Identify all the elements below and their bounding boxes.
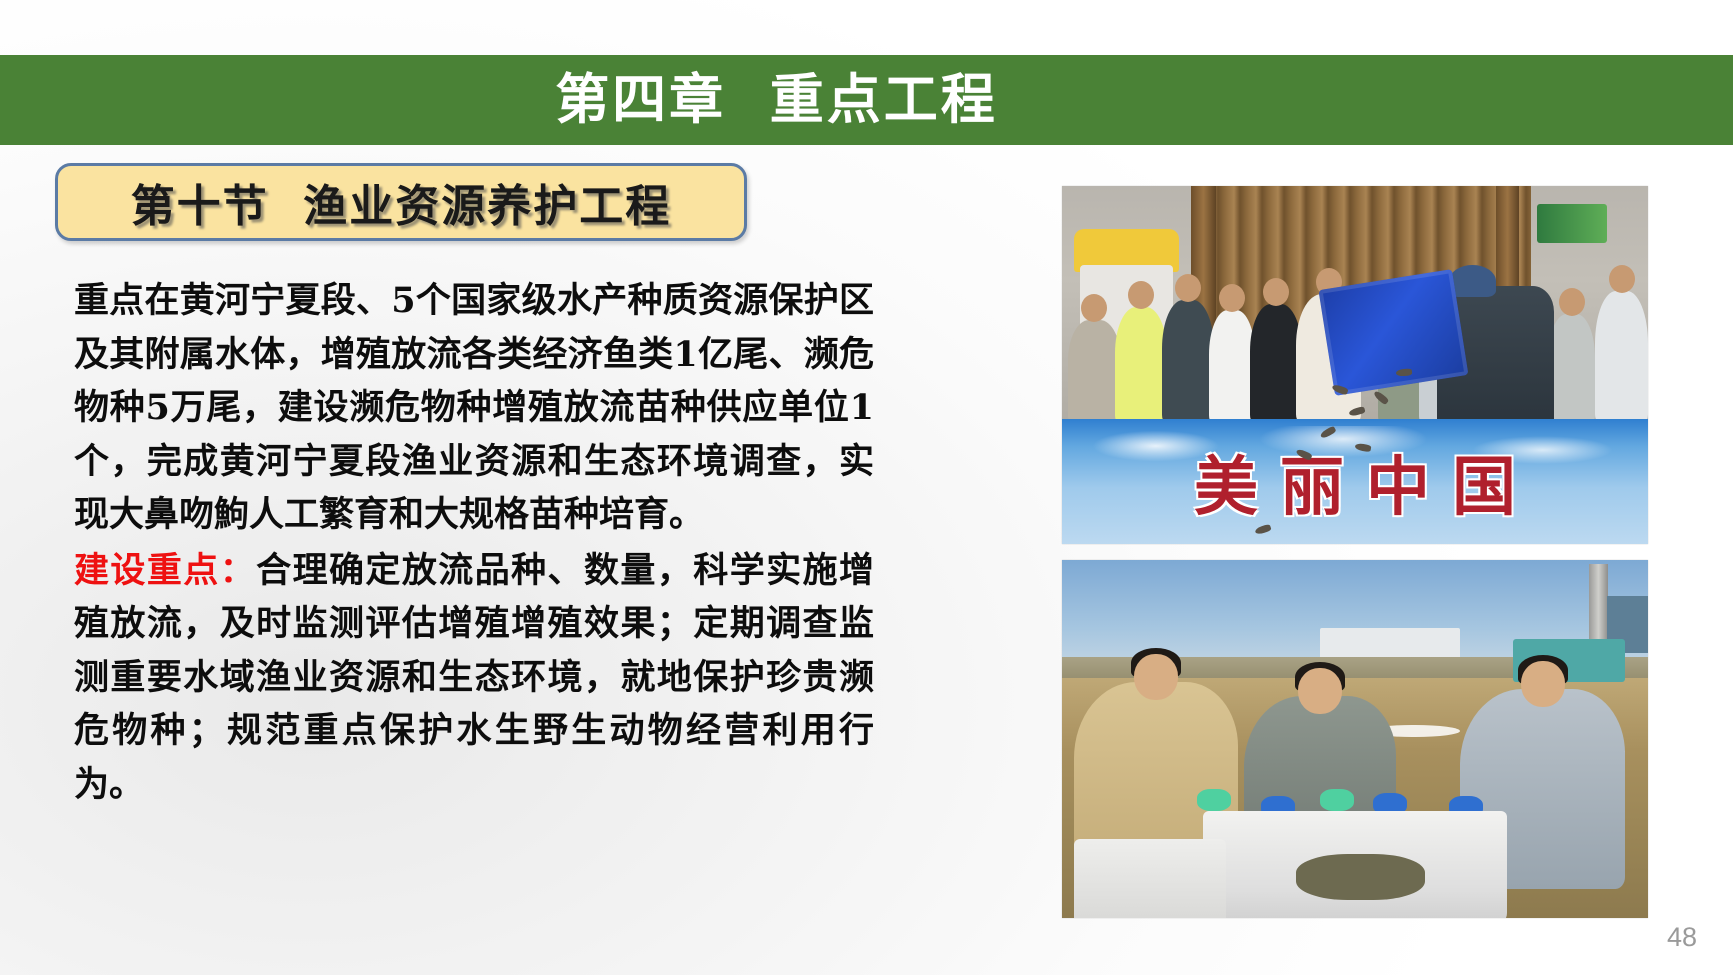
attendee-head <box>1609 265 1635 293</box>
section-title-text: 第十节 渔业资源养护工程 <box>131 170 672 234</box>
attendee <box>1209 310 1256 422</box>
attendee <box>1595 291 1648 423</box>
attendee-head <box>1128 281 1154 309</box>
body-paragraph-1: 重点在黄河宁夏段、5个国家级水产种质资源保护区及其附属水体，增殖放流各类经济鱼类… <box>74 274 874 542</box>
body-text-block: 重点在黄河宁夏段、5个国家级水产种质资源保护区及其附属水体，增殖放流各类经济鱼类… <box>74 274 874 811</box>
photo-field-survey <box>1062 560 1648 918</box>
attendee <box>1068 320 1121 422</box>
body-paragraph-2: 建设重点：合理确定放流品种、数量，科学实施增殖放流，及时监测评估增殖增殖效果；定… <box>74 544 874 812</box>
attendee-head <box>1175 274 1201 302</box>
attendee-head <box>1559 288 1585 316</box>
photo-survey-scene <box>1062 560 1648 918</box>
slide-canvas: 第四章 重点工程 第十节 渔业资源养护工程 重点在黄河宁夏段、5个国家级水产种质… <box>0 0 1733 975</box>
chapter-title: 第四章 重点工程 <box>555 73 998 127</box>
page-number: 48 <box>1667 922 1697 953</box>
researcher-head <box>1521 661 1565 707</box>
build-focus-label: 建设重点： <box>74 550 256 591</box>
attendee <box>1162 300 1215 422</box>
photo-release-scene: 美丽中国 <box>1062 186 1648 544</box>
attendee <box>1250 304 1303 423</box>
banner-slogan-text: 美丽中国 <box>1062 436 1648 528</box>
chapter-banner: 第四章 重点工程 <box>0 55 1733 145</box>
attendee-head <box>1263 278 1289 306</box>
white-sampling-tub-secondary <box>1074 839 1226 918</box>
attendee <box>1548 314 1595 423</box>
attendee-head <box>1219 284 1245 312</box>
attendee-head <box>1081 294 1107 322</box>
green-glove <box>1197 789 1231 811</box>
banner-backdrop: 美丽中国 <box>1062 419 1648 544</box>
section-title-box: 第十节 渔业资源养护工程 <box>55 163 747 241</box>
green-signboard <box>1537 204 1607 243</box>
white-building <box>1320 628 1461 660</box>
photo-release-ceremony: 美丽中国 <box>1062 186 1648 544</box>
researcher-head <box>1298 668 1342 714</box>
attendee <box>1115 307 1168 422</box>
falling-fish <box>1396 368 1413 376</box>
researcher-head <box>1134 654 1178 700</box>
green-glove <box>1320 789 1354 811</box>
fish-catch-pile <box>1296 854 1425 901</box>
blue-fish-crate <box>1318 269 1468 396</box>
worker-cap <box>1449 265 1496 297</box>
